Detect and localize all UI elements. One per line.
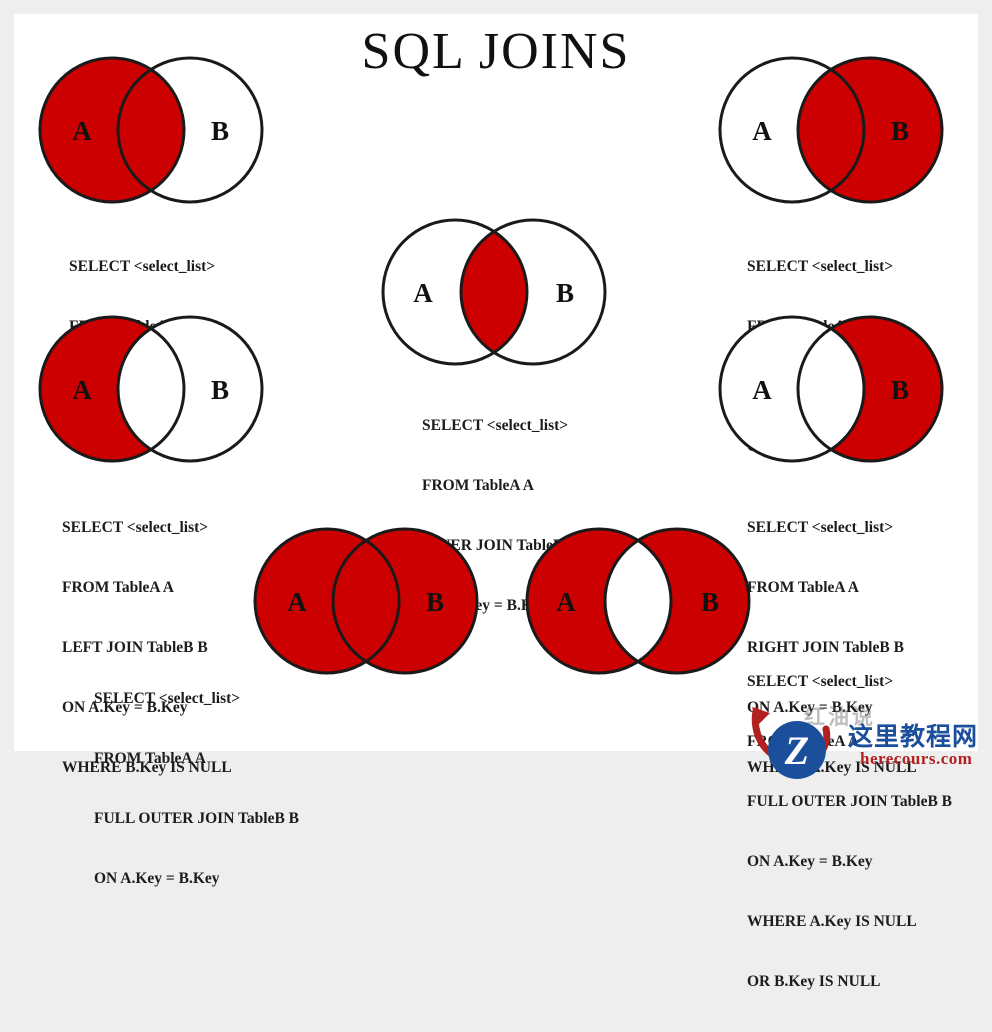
sql-line: FROM TableA A — [422, 476, 577, 496]
sql-line: FULL OUTER JOIN TableB B — [94, 809, 299, 829]
venn-inner-join: A B — [365, 204, 625, 379]
sql-line: SELECT <select_list> — [747, 518, 917, 538]
set-a-label: A — [72, 116, 92, 146]
sql-line: SELECT <select_list> — [422, 416, 577, 436]
sql-line: SELECT <select_list> — [747, 257, 904, 277]
sql-line: FROM TableA A — [94, 749, 299, 769]
venn-left-join: A B — [22, 42, 282, 217]
sql-line: FULL OUTER JOIN TableB B — [747, 792, 952, 812]
watermark: 红油说 Z 这里教程网 herecours.com — [704, 699, 984, 779]
venn-left-join-excluding: A B — [22, 304, 282, 474]
sql-line: ON A.Key = B.Key — [94, 869, 299, 889]
sql-full-outer-join-excluding: SELECT <select_list> FROM TableA A FULL … — [747, 632, 952, 1032]
venn-right-join: A B — [702, 42, 962, 217]
sql-line: OR B.Key IS NULL — [747, 972, 952, 992]
venn-full-outer-join-excluding: A B — [504, 519, 769, 684]
sql-line: SELECT <select_list> — [69, 257, 215, 277]
sql-line: FROM TableA A — [62, 578, 232, 598]
set-a-label: A — [752, 116, 772, 146]
set-b-label: B — [891, 375, 909, 405]
watermark-url: herecours.com — [860, 749, 972, 769]
watermark-logo-icon: Z — [766, 719, 828, 781]
set-a-label: A — [287, 587, 307, 617]
venn-right-join-excluding: A B — [702, 304, 962, 474]
set-a-label: A — [556, 587, 576, 617]
set-b-label: B — [891, 116, 909, 146]
set-a-label: A — [72, 375, 92, 405]
watermark-brand: 这里教程网 — [848, 717, 978, 753]
sql-line: WHERE A.Key IS NULL — [747, 912, 952, 932]
svg-text:Z: Z — [784, 728, 809, 773]
set-a-label: A — [413, 278, 433, 308]
set-b-label: B — [211, 375, 229, 405]
set-a-label: A — [752, 375, 772, 405]
sql-line: SELECT <select_list> — [747, 672, 952, 692]
sql-full-outer-join: SELECT <select_list> FROM TableA A FULL … — [94, 649, 299, 929]
sql-line: ON A.Key = B.Key — [747, 852, 952, 872]
diagram-canvas: SQL JOINS A B SELECT <select_list> FROM … — [14, 14, 978, 751]
set-b-label: B — [211, 116, 229, 146]
sql-line: FROM TableA A — [747, 578, 917, 598]
sql-line: SELECT <select_list> — [94, 689, 299, 709]
set-b-label: B — [556, 278, 574, 308]
set-b-label: B — [426, 587, 444, 617]
set-b-label: B — [701, 587, 719, 617]
sql-line: SELECT <select_list> — [62, 518, 232, 538]
